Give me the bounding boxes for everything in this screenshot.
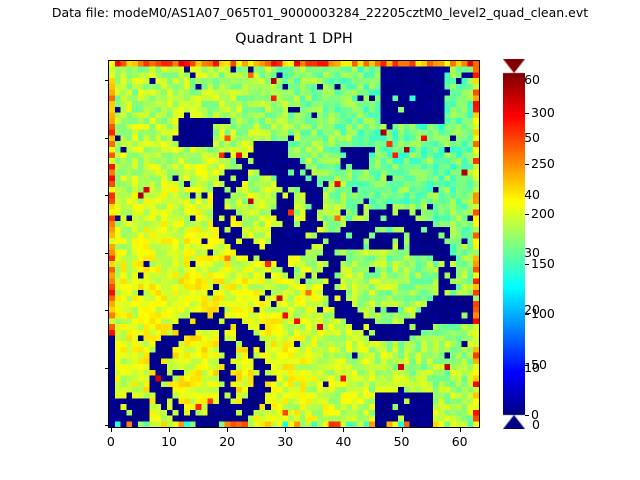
dph-heatmap-image <box>109 61 479 427</box>
colorbar-tick-label: 100 <box>531 307 555 321</box>
y-tick-mark <box>105 368 109 369</box>
y-tick-mark <box>105 195 109 196</box>
x-tick-label: 60 <box>440 434 480 449</box>
colorbar-tick-mark <box>525 365 529 366</box>
x-tick-mark <box>111 428 112 432</box>
colorbar-tick-mark <box>525 314 529 315</box>
x-tick-mark <box>227 428 228 432</box>
data-file-suptitle: Data file: modeM0/AS1A07_065T01_90000032… <box>0 5 640 20</box>
colorbar-tick-mark <box>525 415 529 416</box>
x-tick-mark <box>343 428 344 432</box>
colorbar-tick-mark <box>525 113 529 114</box>
colorbar-tick-label: 150 <box>531 257 555 271</box>
colorbar-tick-label: 50 <box>531 358 547 372</box>
heatmap-axes <box>108 60 480 428</box>
x-tick-label: 0 <box>91 434 131 449</box>
x-tick-label: 30 <box>265 434 305 449</box>
colorbar-gradient <box>503 59 525 429</box>
x-tick-mark <box>402 428 403 432</box>
x-tick-mark <box>285 428 286 432</box>
y-tick-mark <box>105 253 109 254</box>
x-tick-label: 40 <box>323 434 363 449</box>
x-tick-label: 10 <box>149 434 189 449</box>
colorbar-tick-label: 200 <box>531 207 555 221</box>
colorbar-tick-label: 250 <box>531 157 555 171</box>
x-tick-mark <box>460 428 461 432</box>
plot-title: Quadrant 1 DPH <box>108 31 480 47</box>
y-tick-mark <box>105 138 109 139</box>
colorbar-tick-label: 0 <box>531 408 539 422</box>
x-tick-label: 20 <box>207 434 247 449</box>
colorbar <box>503 59 525 429</box>
y-tick-mark <box>105 310 109 311</box>
y-tick-mark <box>105 80 109 81</box>
x-tick-mark <box>169 428 170 432</box>
colorbar-tick-mark <box>525 164 529 165</box>
figure-canvas: Data file: modeM0/AS1A07_065T01_90000032… <box>0 0 640 480</box>
colorbar-tick-mark <box>525 214 529 215</box>
x-tick-label: 50 <box>382 434 422 449</box>
colorbar-tick-label: 300 <box>531 106 555 120</box>
y-tick-mark <box>105 425 109 426</box>
colorbar-tick-mark <box>525 264 529 265</box>
